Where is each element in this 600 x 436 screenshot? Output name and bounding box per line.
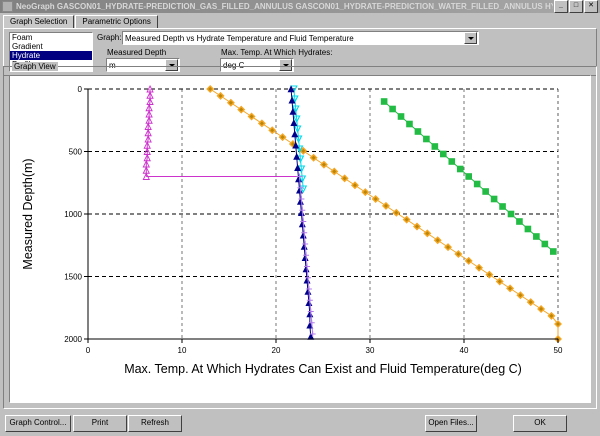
- minimize-button[interactable]: _: [554, 0, 568, 13]
- print-button[interactable]: Print: [73, 415, 127, 432]
- window-titlebar: NeoGraph GASCON01_HYDRATE-PREDICTION_GAS…: [0, 0, 600, 13]
- svg-text:1500: 1500: [64, 273, 82, 282]
- svg-text:1000: 1000: [64, 210, 82, 219]
- svg-text:Measured Depth(m): Measured Depth(m): [21, 158, 35, 269]
- ok-button[interactable]: OK: [513, 415, 567, 432]
- tab-parametric-options[interactable]: Parametric Options: [75, 15, 157, 28]
- close-button[interactable]: ✕: [584, 0, 598, 13]
- hydrate-prediction-chart: 050010001500200001020304050Max. Temp. At…: [10, 76, 590, 402]
- svg-text:10: 10: [178, 346, 187, 355]
- graph-combobox[interactable]: Measured Depth vs Hydrate Temperature an…: [122, 31, 479, 45]
- svg-text:500: 500: [69, 148, 83, 157]
- svg-text:50: 50: [554, 346, 563, 355]
- graph-view-group-label: Graph View: [12, 62, 58, 71]
- listbox-item-gradient[interactable]: Gradient: [10, 42, 92, 51]
- svg-text:20: 20: [272, 346, 281, 355]
- svg-text:40: 40: [460, 346, 469, 355]
- tab-strip: Graph Selection Parametric Options: [0, 14, 600, 28]
- graph-control-button[interactable]: Graph Control...: [5, 415, 71, 432]
- listbox-item-hydrate[interactable]: Hydrate: [10, 51, 92, 60]
- listbox-item-foam[interactable]: Foam: [10, 33, 92, 42]
- refresh-button[interactable]: Refresh: [128, 415, 182, 432]
- svg-text:Max. Temp. At Which Hydrates C: Max. Temp. At Which Hydrates Can Exist a…: [124, 362, 522, 376]
- graph-label: Graph:: [97, 33, 121, 42]
- graph-view-group: Graph View 050010001500200001020304050Ma…: [3, 66, 597, 409]
- svg-text:30: 30: [366, 346, 375, 355]
- svg-text:0: 0: [86, 346, 91, 355]
- svg-text:0: 0: [78, 85, 83, 94]
- tab-graph-selection[interactable]: Graph Selection: [3, 15, 74, 28]
- app-icon: [2, 1, 13, 12]
- graph-combobox-value: Measured Depth vs Hydrate Temperature an…: [123, 34, 464, 43]
- chevron-down-icon[interactable]: [464, 32, 477, 44]
- svg-text:2000: 2000: [64, 335, 82, 344]
- measured-depth-label: Measured Depth: [107, 48, 166, 57]
- plot-panel[interactable]: 050010001500200001020304050Max. Temp. At…: [9, 75, 591, 403]
- maximize-button[interactable]: □: [569, 0, 583, 13]
- window-title: NeoGraph GASCON01_HYDRATE-PREDICTION_GAS…: [16, 2, 553, 11]
- open-files-button[interactable]: Open Files...: [425, 415, 477, 432]
- max-temp-label: Max. Temp. At Which Hydrates:: [221, 48, 332, 57]
